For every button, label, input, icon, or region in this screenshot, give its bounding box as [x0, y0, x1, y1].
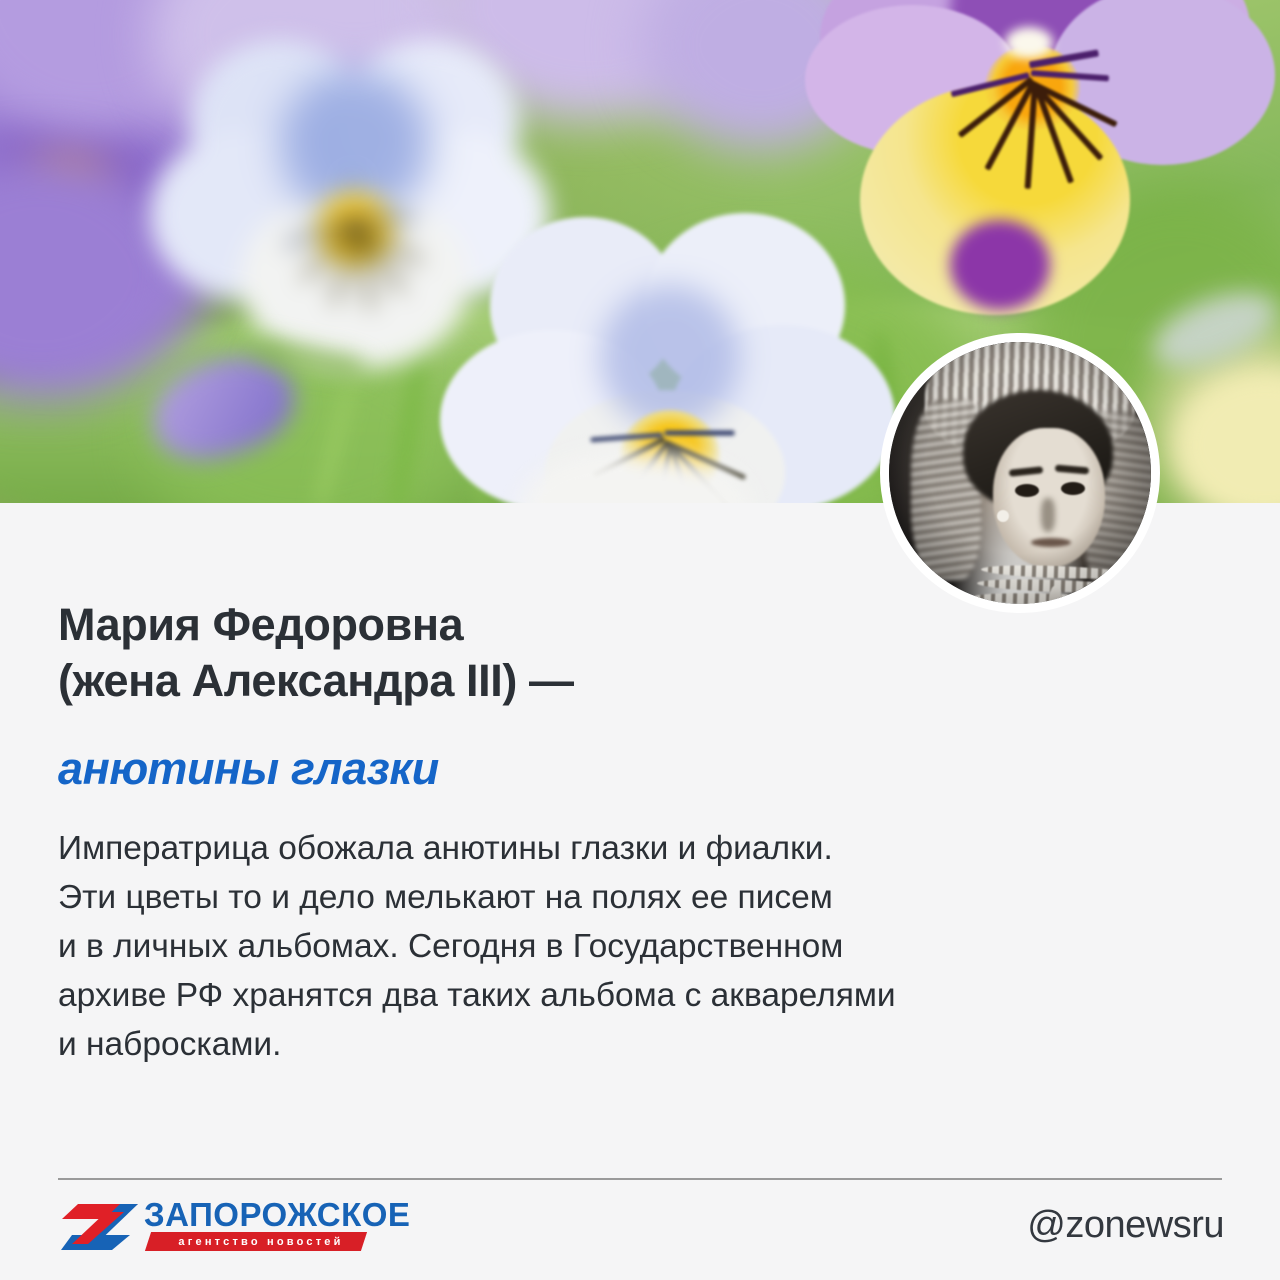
- whisker-8: [665, 431, 735, 436]
- agency-logo[interactable]: ЗАПОРОЖСКОЕ агентство новостей: [60, 1196, 370, 1260]
- portrait-vignette: [889, 342, 1151, 604]
- logo-wordmark: ЗАПОРОЖСКОЕ: [144, 1196, 410, 1234]
- portrait-image: [889, 342, 1151, 604]
- petal-lower-purple-blotch: [950, 220, 1050, 310]
- info-card: Мария Федоровна (жена Александра III) — …: [0, 0, 1280, 1280]
- page-subtitle: анютины глазки: [58, 741, 858, 797]
- petal-blue-wash: [600, 285, 740, 430]
- social-handle[interactable]: @zonewsru: [1027, 1196, 1224, 1254]
- z-mark-icon: [60, 1200, 146, 1254]
- portrait-avatar: [880, 333, 1160, 613]
- pansy-violet-yellow-right: [800, 0, 1280, 345]
- flower-center-white-dot: [1005, 27, 1053, 59]
- page-title: Мария Федоровна (жена Александра III) —: [58, 597, 858, 709]
- body-text: Императрица обожала анютины глазки и фиа…: [58, 824, 1068, 1069]
- footer-divider: [58, 1178, 1222, 1180]
- logo-tagline: агентство новостей: [156, 1233, 366, 1251]
